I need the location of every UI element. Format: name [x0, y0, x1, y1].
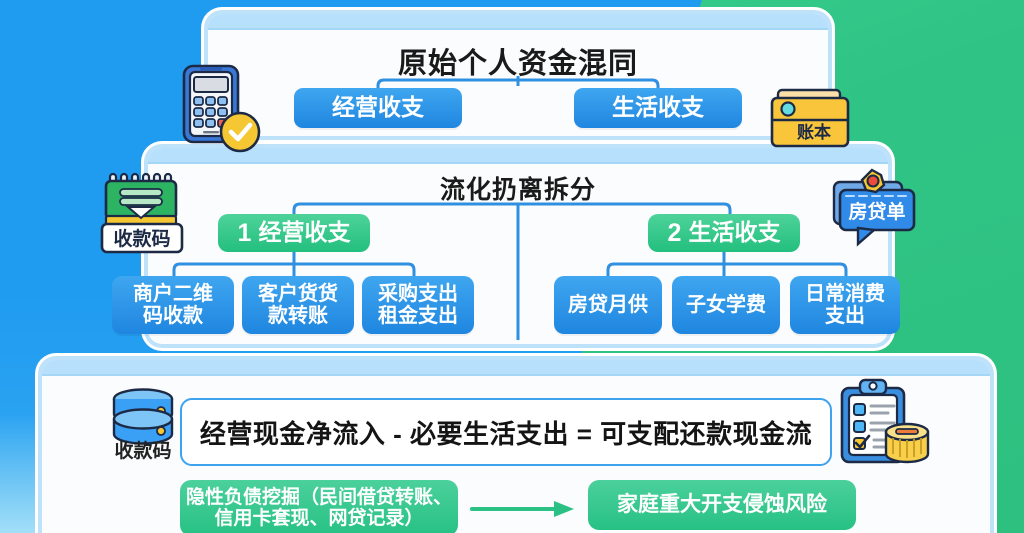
pos-terminal-icon: [170, 62, 266, 156]
leaf3-line2: 租金支出: [378, 305, 458, 327]
tier1-title: 原始个人资金混同: [208, 40, 828, 82]
leaf1-line2: 码收款: [133, 305, 213, 327]
arrow-right-icon: [470, 498, 578, 520]
leaf2-line2: 款转账: [258, 305, 338, 327]
tier2-group-life[interactable]: 2 生活收支: [648, 214, 800, 252]
leaf3-line1: 采购支出: [378, 283, 458, 305]
leaf-merchant-qr[interactable]: 商户二维 码收款: [112, 276, 234, 334]
mortgage-bill-icon: 房贷单: [828, 168, 920, 250]
svg-text:房贷单: 房贷单: [848, 200, 905, 223]
leaf2-line1: 客户货货: [258, 283, 338, 305]
group2-number: 2: [668, 219, 682, 247]
tier1-business-pill[interactable]: 经营收支: [294, 88, 462, 128]
coin-stack-icon: [886, 424, 928, 462]
leaf1-line1: 商户二维: [133, 283, 213, 305]
tier1-shelf: [208, 14, 828, 30]
clipboard-checklist-icon: [836, 378, 932, 466]
group1-number: 1: [238, 219, 252, 247]
hidden-debt-box[interactable]: 隐性负债挖掘（民间借贷转账、 信用卡套现、网贷记录）: [180, 480, 458, 533]
group2-label: 生活收支: [688, 220, 780, 246]
tier1-panel: 原始个人资金混同 经营收支 生活收支: [208, 14, 828, 136]
leaf4-line1: 房贷月供: [568, 294, 648, 316]
infographic-canvas: 原始个人资金混同 经营收支 生活收支 流化扔离拆分 1 经营收支 2 生活收支: [0, 0, 1024, 533]
tier3-shelf: [42, 360, 990, 376]
leaf-mortgage-monthly[interactable]: 房贷月供: [554, 276, 662, 334]
svg-text:账本: 账本: [797, 122, 831, 142]
tier2-panel: 流化扔离拆分 1 经营收支 2 生活收支 商户二维 码收款: [148, 148, 888, 344]
svg-text:收款码: 收款码: [113, 227, 170, 250]
leaf5-line1: 子女学费: [686, 294, 766, 316]
tier2-group-business[interactable]: 1 经营收支: [218, 214, 370, 252]
leaf-child-tuition[interactable]: 子女学费: [672, 276, 780, 334]
hidden-debt-line2: 信用卡套现、网贷记录）: [186, 508, 452, 529]
leaf6-line2: 支出: [805, 305, 885, 327]
group1-label: 经营收支: [258, 220, 350, 246]
leaf-customer-payment[interactable]: 客户货货 款转账: [242, 276, 354, 334]
leaf-purchase-rent[interactable]: 采购支出 租金支出: [362, 276, 474, 334]
leaf-daily-consumption[interactable]: 日常消费 支出: [790, 276, 900, 334]
family-risk-box[interactable]: 家庭重大开支侵蚀风险: [588, 480, 856, 530]
payment-code-icon: 收款码: [98, 172, 190, 256]
database-label: 收款码: [92, 436, 194, 463]
tier2-title: 流化扔离拆分: [148, 170, 888, 206]
leaf6-line1: 日常消费: [805, 283, 885, 305]
tier1-life-pill[interactable]: 生活收支: [574, 88, 742, 128]
ledger-book-icon: 账本: [770, 88, 852, 150]
hidden-debt-line1: 隐性负债挖掘（民间借贷转账、: [186, 487, 452, 508]
check-badge-icon: [221, 113, 259, 151]
cashflow-formula-box: 经营现金净流入 - 必要生活支出 = 可支配还款现金流: [180, 398, 832, 466]
